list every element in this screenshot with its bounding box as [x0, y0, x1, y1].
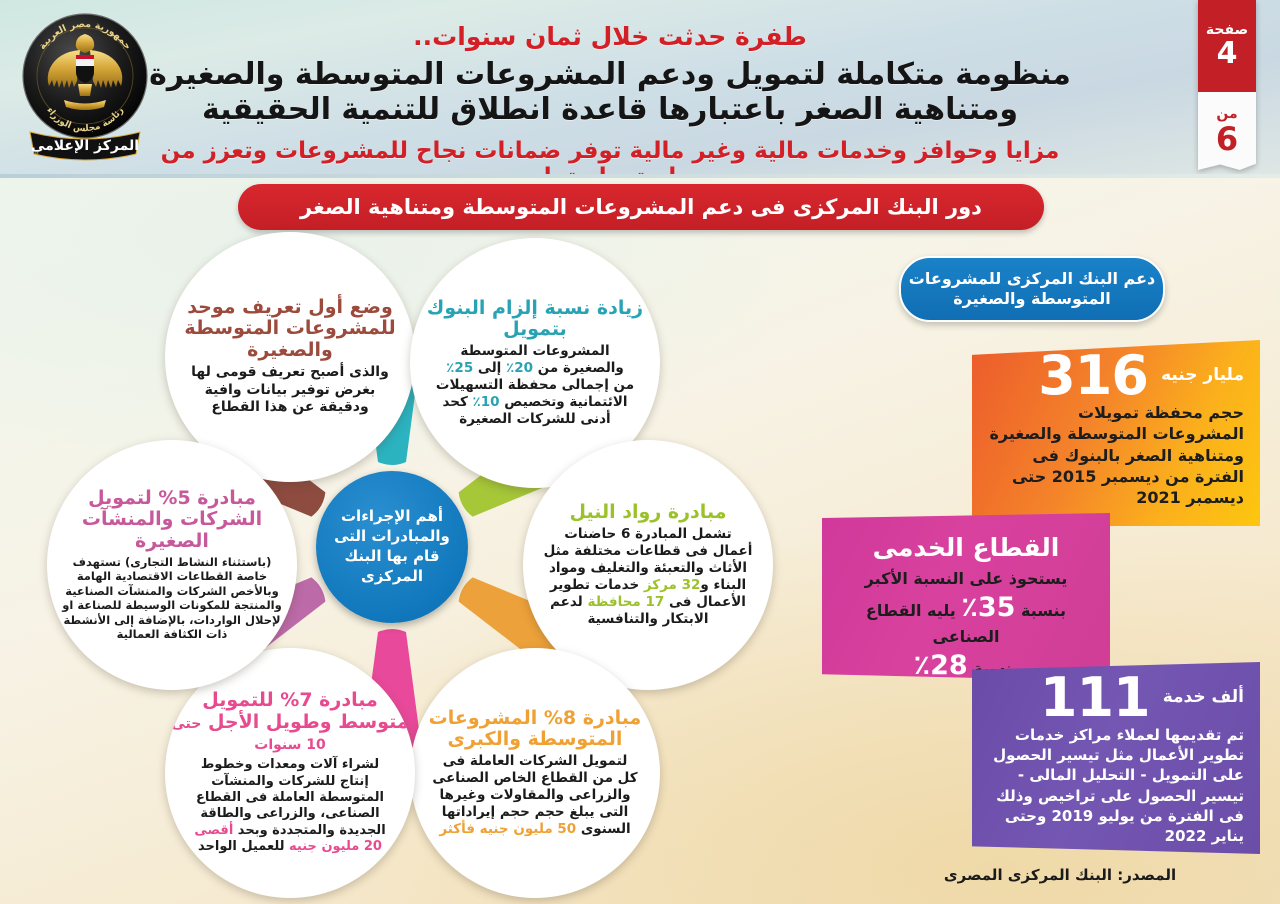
bubble-banks-ratio-head: زيادة نسبة إلزام البنوك بتمويل	[416, 298, 654, 341]
pink-heading: القطاع الخدمى	[838, 533, 1094, 562]
stat-card-services-count: ألف خدمة 111 تم تقديمها لعملاء مراكز خدم…	[972, 662, 1260, 854]
header-kicker: طفرة حدثت خلال ثمان سنوات..	[110, 22, 1110, 51]
header-main-title: منظومة متكاملة لتمويل ودعم المشروعات الم…	[110, 57, 1110, 128]
bubble-banks-ratio-body: المشروعات المتوسطة والصغيرة من 20٪ إلى 2…	[416, 343, 654, 428]
bubble-nile-body: تشمل المبادرة 6 حاضنات أعمال فى قطاعات م…	[529, 526, 767, 628]
nile-governorates: 17 محافظة	[587, 594, 664, 610]
bubble-init5-body: (باستثناء النشاط التجارى) تستهدف خاصة ال…	[53, 555, 291, 642]
pct-25: 25٪	[446, 360, 473, 376]
bubble-init7-body: لشراء آلات ومعدات وخطوط إنتاج للشركات وا…	[171, 757, 409, 855]
stat-card-portfolio: مليار جنيه 316 حجم محفظة تمويلات المشروع…	[972, 340, 1260, 526]
bubble-init5-head: مبادرة 5% لتمويل الشركات والمنشآت الصغير…	[53, 488, 291, 552]
orange-unit: مليار جنيه	[1161, 365, 1244, 385]
page-total: 6	[1216, 123, 1238, 155]
orange-description: حجم محفظة تمويلات المشروعات المتوسطة وال…	[988, 402, 1244, 508]
page-badge-top: صفحة 4	[1198, 0, 1256, 92]
purple-description: تم تقديمها لعملاء مراكز خدمات تطوير الأع…	[988, 725, 1244, 846]
stat-card-services-sector: القطاع الخدمى يستحوذ على النسبة الأكبر ب…	[822, 513, 1110, 681]
purple-number: 111	[1040, 672, 1150, 723]
pink-pct-28: 28٪	[914, 650, 968, 681]
pink-pct-35: 35٪	[961, 592, 1015, 623]
source-note: المصدر: البنك المركزى المصرى	[860, 866, 1260, 884]
orange-number: 316	[1038, 350, 1148, 401]
nile-centers: 32 مركز	[644, 577, 701, 593]
right-panel-pill-text: دعم البنك المركزى للمشروعات المتوسطة وال…	[901, 269, 1163, 309]
section-title-text: دور البنك المركزى فى دعم المشروعات المتو…	[300, 195, 982, 219]
page-number-badge: صفحة 4 من 6	[1198, 0, 1256, 170]
pct-10: 10٪	[473, 394, 500, 410]
bubble-nile-head: مبادرة رواد النيل	[570, 502, 727, 523]
infographic-page: جمهورية مصر العربية رئاسة مجلس الوزراء ا…	[0, 0, 1280, 904]
bubble-init8-body: لتمويل الشركات العاملة فى كل من القطاع ا…	[416, 753, 654, 838]
init8-threshold: 50 مليون جنيه فأكثر	[439, 821, 576, 837]
pct-20: 20٪	[506, 360, 533, 376]
pink-line-1: يستحوذ على النسبة الأكبر	[838, 568, 1094, 589]
header-titles: طفرة حدثت خلال ثمان سنوات.. منظومة متكام…	[110, 6, 1110, 190]
wheel-center-circle[interactable]: أهم الإجراءات والمبادرات التى قام بها ال…	[316, 471, 468, 623]
initiatives-wheel: وضع أول تعريف موحد للمشروعات المتوسطة وا…	[55, 228, 775, 904]
page-current: 4	[1217, 39, 1238, 69]
purple-unit: ألف خدمة	[1163, 687, 1244, 707]
right-panel-pill[interactable]: دعم البنك المركزى للمشروعات المتوسطة وال…	[899, 256, 1165, 322]
pink-line-2: بنسبة 35٪ يليه القطاع الصناعى	[838, 590, 1094, 647]
bubble-init7-head: مبادرة 7% للتمويل متوسط وطويل الأجل حتى …	[171, 690, 409, 754]
bubble-definition-body: والذى أصبح تعريف قومى لها بغرض توفير بيا…	[171, 364, 409, 417]
bubble-definition-head: وضع أول تعريف موحد للمشروعات المتوسطة وا…	[171, 297, 409, 361]
page-badge-bottom: من 6	[1198, 92, 1256, 170]
section-title-bar: دور البنك المركزى فى دعم المشروعات المتو…	[238, 184, 1044, 230]
bubble-initiative-8[interactable]: مبادرة 8% المشروعات المتوسطة والكبرى لتم…	[410, 648, 660, 898]
wheel-center-text: أهم الإجراءات والمبادرات التى قام بها ال…	[316, 507, 468, 586]
page-header: جمهورية مصر العربية رئاسة مجلس الوزراء ا…	[0, 0, 1280, 178]
bubble-init8-head: مبادرة 8% المشروعات المتوسطة والكبرى	[416, 708, 654, 751]
bubble-initiative-5[interactable]: مبادرة 5% لتمويل الشركات والمنشآت الصغير…	[47, 440, 297, 690]
